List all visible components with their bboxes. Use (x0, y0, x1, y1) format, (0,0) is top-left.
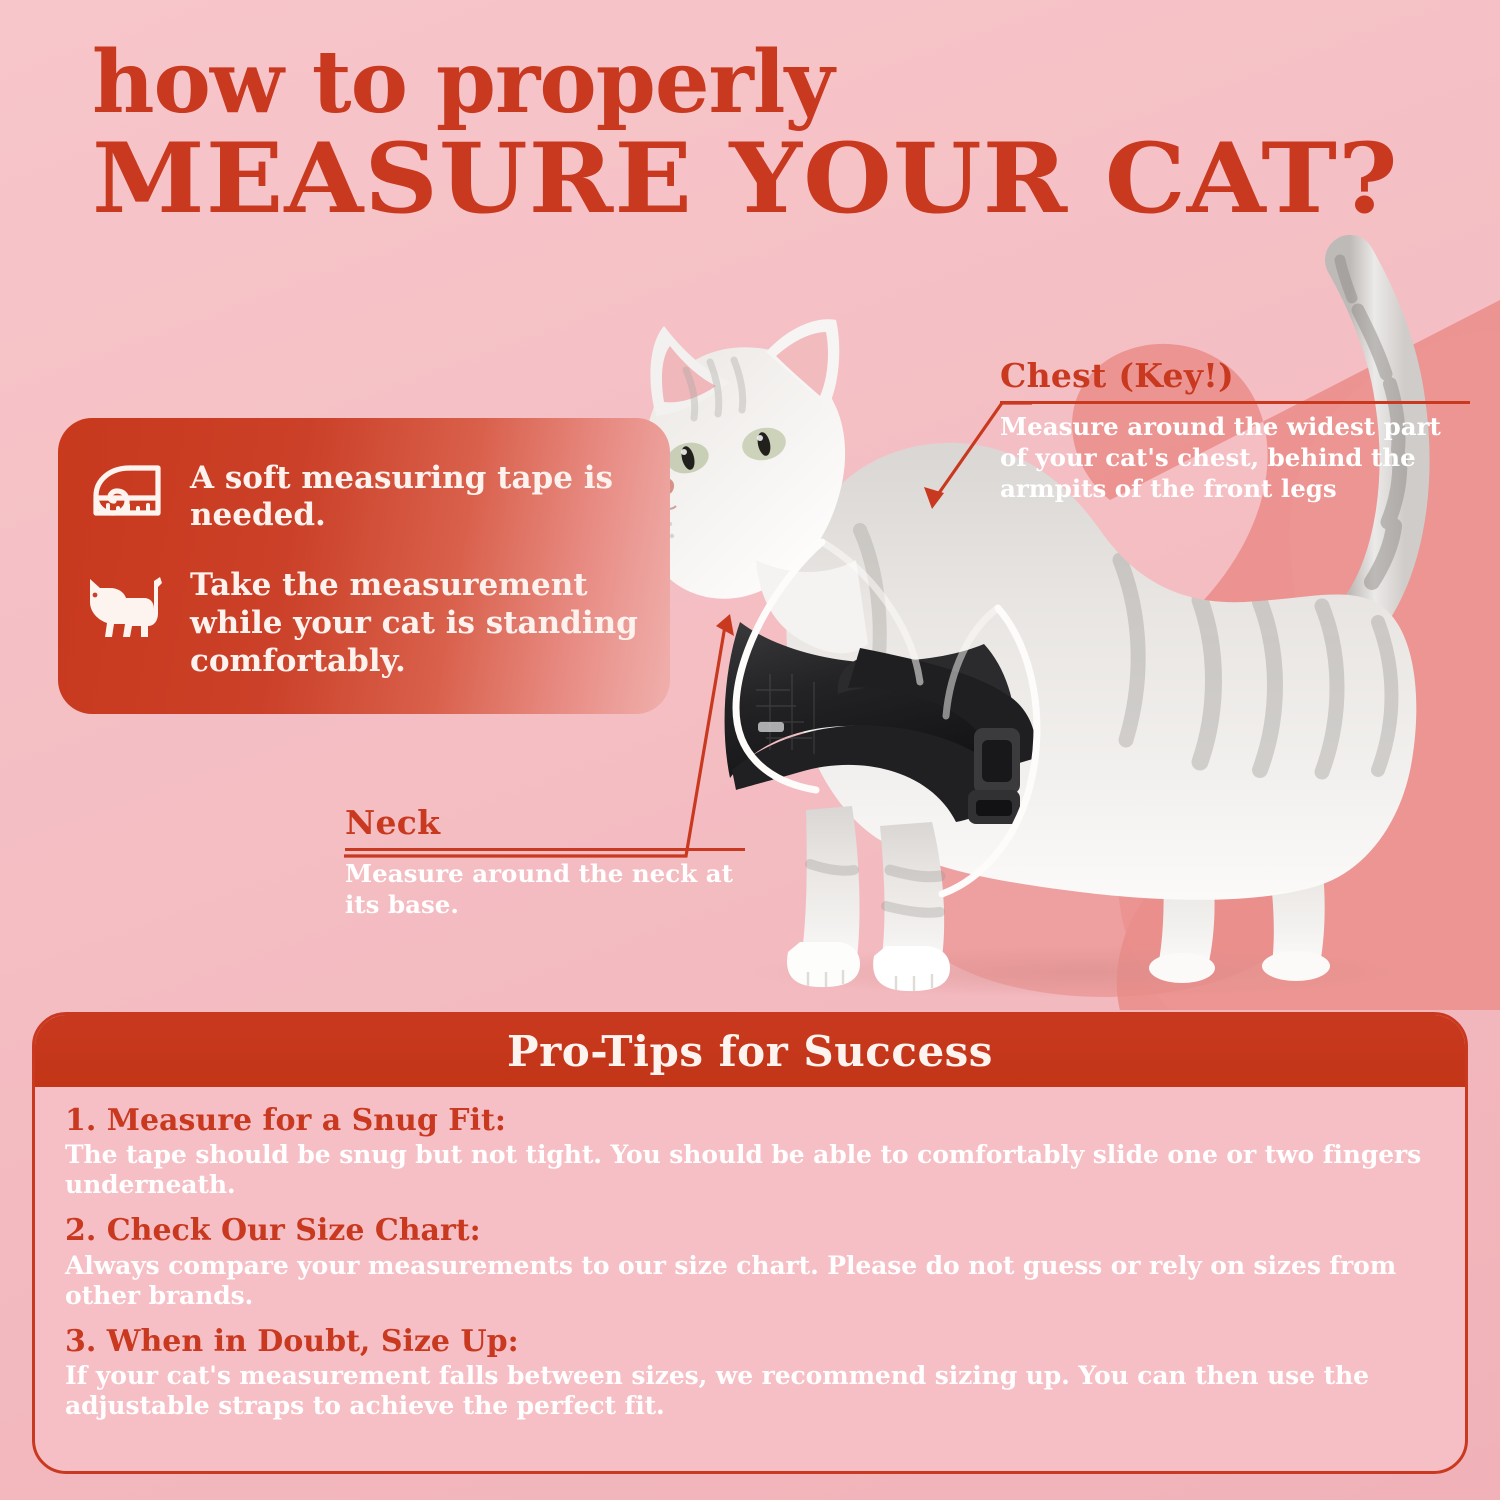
annotation-chest-body: Measure around the widest part of your c… (1000, 412, 1470, 505)
title-line-1: how to properly (92, 42, 1432, 124)
tip-item: 2. Check Our Size Chart: Always compare … (65, 1213, 1437, 1310)
annotation-chest: Chest (Key!) Measure around the widest p… (1000, 358, 1470, 505)
tip-title: 2. Check Our Size Chart: (65, 1213, 1437, 1248)
chest-leader-arrow (910, 395, 1040, 525)
tip-title: 3. When in Doubt, Size Up: (65, 1324, 1437, 1359)
tip-text: The tape should be snug but not tight. Y… (65, 1140, 1437, 1200)
page-title: how to properly MEASURE YOUR CAT? (92, 42, 1432, 228)
requirement-item: A soft measuring tape is needed. (84, 456, 648, 540)
annotation-chest-rule (1000, 401, 1470, 404)
infographic-canvas: how to properly MEASURE YOUR CAT? (0, 0, 1500, 1500)
measuring-tape-icon (84, 456, 168, 540)
annotation-chest-title: Chest (Key!) (1000, 358, 1470, 394)
pro-tips-header: Pro-Tips for Success (35, 1015, 1465, 1087)
tip-text: Always compare your measurements to our … (65, 1251, 1437, 1311)
requirement-text: A soft measuring tape is needed. (190, 456, 648, 536)
title-line-2: MEASURE YOUR CAT? (92, 130, 1500, 228)
neck-leader-arrow (330, 612, 740, 860)
tip-item: 3. When in Doubt, Size Up: If your cat's… (65, 1324, 1437, 1421)
pro-tips-body: 1. Measure for a Snug Fit: The tape shou… (35, 1087, 1465, 1444)
walking-cat-icon (84, 563, 168, 647)
tip-text: If your cat's measurement falls between … (65, 1361, 1437, 1421)
tip-item: 1. Measure for a Snug Fit: The tape shou… (65, 1103, 1437, 1200)
pro-tips-title: Pro-Tips for Success (507, 1027, 993, 1076)
pro-tips-panel: Pro-Tips for Success 1. Measure for a Sn… (32, 1012, 1468, 1474)
tip-title: 1. Measure for a Snug Fit: (65, 1103, 1437, 1138)
annotation-neck-body: Measure around the neck at its base. (345, 859, 745, 921)
